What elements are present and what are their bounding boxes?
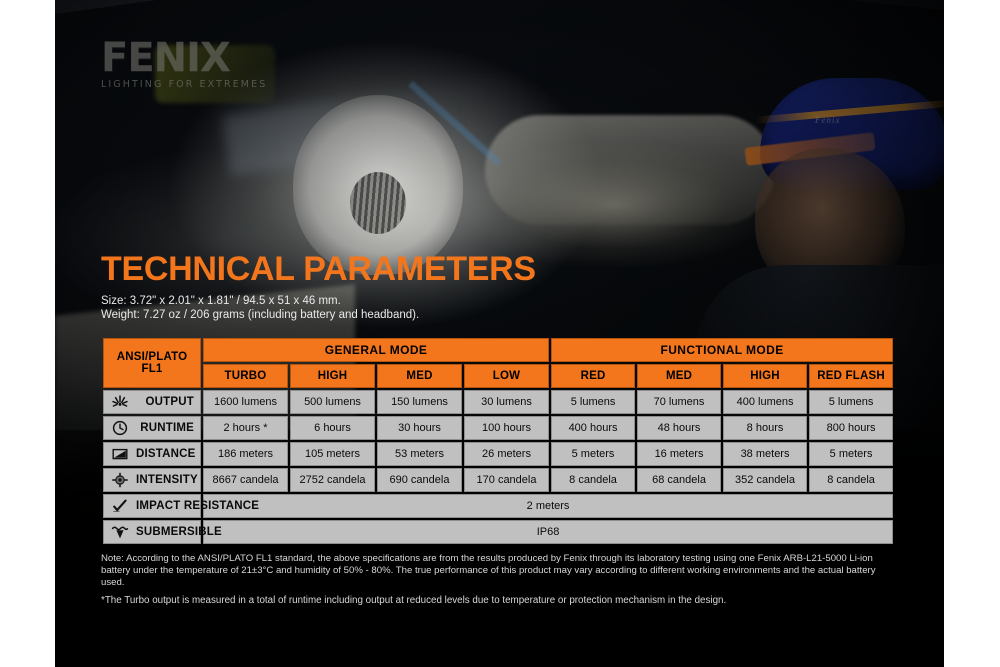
table-row: OUTPUT 1600 lumens 500 lumens 150 lumens… — [103, 390, 893, 414]
cell-distance-med: 53 meters — [377, 442, 462, 466]
row-label-output: OUTPUT — [103, 390, 201, 414]
impact-icon — [110, 497, 130, 515]
logo-tagline: LIGHTING FOR EXTREMES — [101, 79, 267, 90]
cell-output-red: 5 lumens — [551, 390, 635, 414]
corner-label: ANSI/PLATO FL1 — [103, 338, 201, 388]
cell-runtime-low: 100 hours — [464, 416, 549, 440]
cell-impact-resistance-value: 2 meters — [203, 494, 893, 518]
page-root: Fenix FENIX LIGHTING FOR EXTREMES TECHNI… — [0, 0, 1000, 667]
column-header-turbo: TURBO — [203, 364, 288, 388]
table-header-columns-row: TURBO HIGH MED LOW RED MED HIGH RED FLAS… — [103, 364, 893, 388]
ansi-note: Note: According to the ANSI/PLATO FL1 st… — [101, 553, 887, 588]
column-header-high: HIGH — [290, 364, 375, 388]
row-label-text: RUNTIME — [136, 422, 198, 434]
cell-intensity-med: 690 candela — [377, 468, 462, 492]
cell-intensity-red-flash: 8 candela — [809, 468, 893, 492]
column-header-low: LOW — [464, 364, 549, 388]
cell-runtime-red: 400 hours — [551, 416, 635, 440]
cell-output-red-med: 70 lumens — [637, 390, 721, 414]
cell-output-red-flash: 5 lumens — [809, 390, 893, 414]
spec-table: ANSI/PLATO FL1 GENERAL MODE FUNCTIONAL M… — [101, 336, 895, 546]
row-label-text: OUTPUT — [136, 396, 198, 408]
column-header-red-flash: RED FLASH — [809, 364, 893, 388]
distance-icon — [110, 445, 130, 463]
spec-table-container: ANSI/PLATO FL1 GENERAL MODE FUNCTIONAL M… — [101, 336, 885, 546]
row-label-text: SUBMERSIBLE — [136, 526, 226, 538]
cell-distance-low: 26 meters — [464, 442, 549, 466]
row-label-distance: DISTANCE — [103, 442, 201, 466]
row-label-text: INTENSITY — [136, 474, 202, 486]
size-line: Size: 3.72" x 2.01" x 1.81" / 94.5 x 51 … — [101, 295, 419, 309]
cell-output-med: 150 lumens — [377, 390, 462, 414]
table-header-group-row: ANSI/PLATO FL1 GENERAL MODE FUNCTIONAL M… — [103, 338, 893, 362]
product-dimensions: Size: 3.72" x 2.01" x 1.81" / 94.5 x 51 … — [101, 295, 419, 322]
table-row: SUBMERSIBLE IP68 — [103, 520, 893, 544]
page-title: TECHNICAL PARAMETERS — [101, 252, 536, 286]
cell-runtime-red-med: 48 hours — [637, 416, 721, 440]
cell-distance-red: 5 meters — [551, 442, 635, 466]
submersible-icon — [110, 523, 130, 541]
cell-intensity-low: 170 candela — [464, 468, 549, 492]
column-header-med: MED — [377, 364, 462, 388]
intensity-icon — [110, 471, 130, 489]
table-row: RUNTIME 2 hours * 6 hours 30 hours 100 h… — [103, 416, 893, 440]
row-label-impact-resistance: IMPACT RESISTANCE — [103, 494, 201, 518]
turbo-note: *The Turbo output is measured in a total… — [101, 595, 887, 607]
column-header-red-high: HIGH — [723, 364, 807, 388]
row-label-text: DISTANCE — [136, 448, 200, 460]
cell-output-turbo: 1600 lumens — [203, 390, 288, 414]
cell-distance-red-high: 38 meters — [723, 442, 807, 466]
cell-output-high: 500 lumens — [290, 390, 375, 414]
cell-distance-turbo: 186 meters — [203, 442, 288, 466]
clock-icon — [110, 419, 130, 437]
table-row: DISTANCE 186 meters 105 meters 53 meters… — [103, 442, 893, 466]
group-header-general: GENERAL MODE — [203, 338, 549, 362]
cell-intensity-turbo: 8667 candela — [203, 468, 288, 492]
cell-runtime-med: 30 hours — [377, 416, 462, 440]
logo-wordmark: FENIX — [101, 38, 267, 78]
row-label-intensity: INTENSITY — [103, 468, 201, 492]
table-row: INTENSITY 8667 candela 2752 candela 690 … — [103, 468, 893, 492]
row-label-text: IMPACT RESISTANCE — [136, 500, 263, 512]
row-label-runtime: RUNTIME — [103, 416, 201, 440]
column-header-red-med: MED — [637, 364, 721, 388]
cell-distance-high: 105 meters — [290, 442, 375, 466]
table-row: IMPACT RESISTANCE 2 meters — [103, 494, 893, 518]
cell-output-low: 30 lumens — [464, 390, 549, 414]
cell-runtime-turbo: 2 hours * — [203, 416, 288, 440]
weight-line: Weight: 7.27 oz / 206 grams (including b… — [101, 309, 419, 323]
column-header-red: RED — [551, 364, 635, 388]
cell-runtime-high: 6 hours — [290, 416, 375, 440]
fenix-logo: FENIX LIGHTING FOR EXTREMES — [101, 38, 267, 90]
cell-intensity-red: 8 candela — [551, 468, 635, 492]
cell-intensity-red-high: 352 candela — [723, 468, 807, 492]
cell-runtime-red-high: 8 hours — [723, 416, 807, 440]
logo-wordmark-text: FENIX — [101, 35, 230, 81]
row-label-submersible: SUBMERSIBLE — [103, 520, 201, 544]
cell-distance-red-med: 16 meters — [637, 442, 721, 466]
burst-icon — [110, 393, 130, 411]
cell-runtime-red-flash: 800 hours — [809, 416, 893, 440]
cell-submersible-value: IP68 — [203, 520, 893, 544]
cell-output-red-high: 400 lumens — [723, 390, 807, 414]
cell-intensity-red-med: 68 candela — [637, 468, 721, 492]
group-header-functional: FUNCTIONAL MODE — [551, 338, 893, 362]
cell-distance-red-flash: 5 meters — [809, 442, 893, 466]
cell-intensity-high: 2752 candela — [290, 468, 375, 492]
